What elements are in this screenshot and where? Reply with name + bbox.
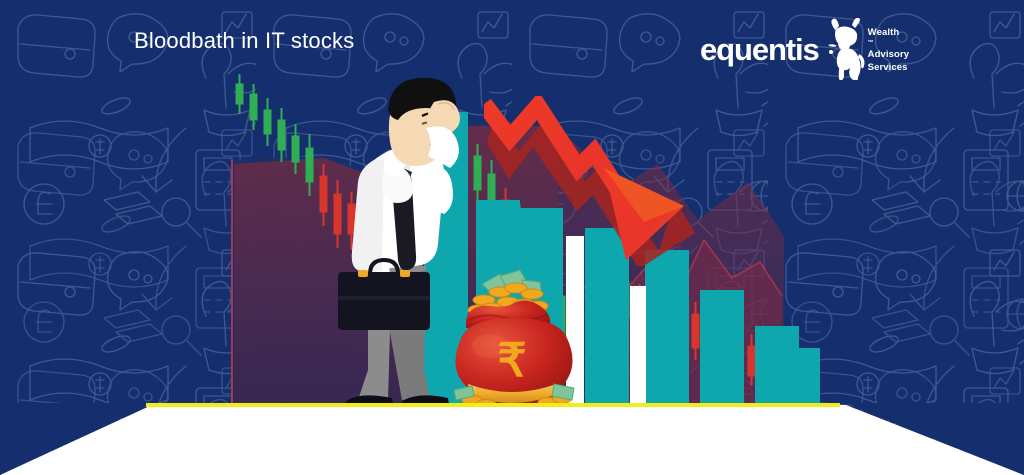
logo-tagline-line-1: Wealth™: [868, 26, 909, 48]
ground-line: [146, 403, 840, 407]
banner: ₹ Bloodbath in IT stocks equentis: [0, 0, 1024, 475]
bar-6: [700, 290, 744, 405]
logo-wordmark: equentis: [700, 34, 819, 65]
bar-gap-highlight: [630, 286, 646, 405]
logo-tagline-line-3: Services: [868, 61, 909, 74]
money-bag: ₹: [438, 258, 586, 408]
trademark-icon: ™: [868, 39, 909, 48]
bull-icon: [822, 18, 866, 80]
briefcase: [336, 258, 432, 334]
logo-tagline-line-2: Advisory: [868, 48, 909, 61]
bar-5: [645, 250, 689, 405]
downward-trend-arrow: [484, 96, 714, 266]
stage-platform: [0, 405, 1024, 475]
page-title: Bloodbath in IT stocks: [134, 28, 354, 54]
bar-8: [790, 348, 820, 405]
svg-text:₹: ₹: [497, 334, 526, 386]
brand-logo[interactable]: equentis: [700, 18, 909, 80]
logo-tagline: Wealth™ Advisory Services: [868, 24, 909, 75]
